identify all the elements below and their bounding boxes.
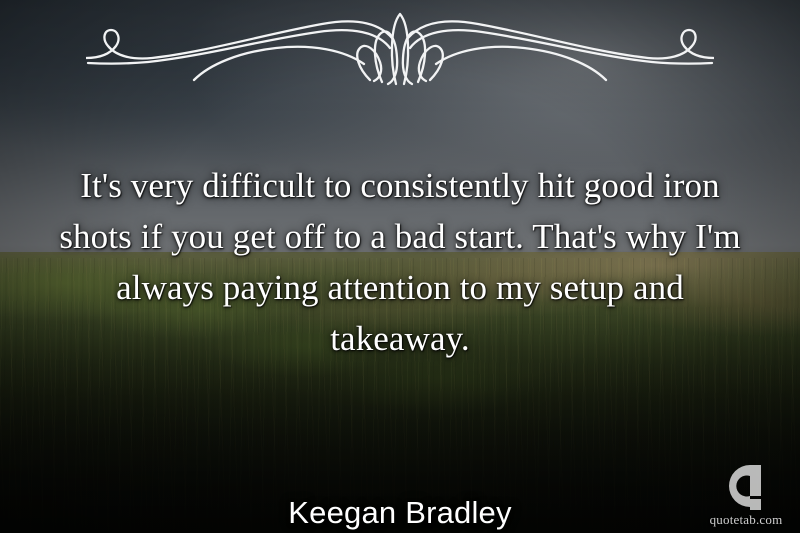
quotetab-q-logo-icon (704, 464, 788, 512)
quote-image: It's very difficult to consistently hit … (0, 0, 800, 533)
watermark-site-text: quotetab.com (704, 513, 788, 527)
decorative-flourish-icon (86, 8, 714, 86)
watermark[interactable]: quotetab.com (704, 464, 788, 527)
quote-author: Keegan Bradley (0, 496, 800, 530)
quote-text: It's very difficult to consistently hit … (48, 160, 752, 364)
